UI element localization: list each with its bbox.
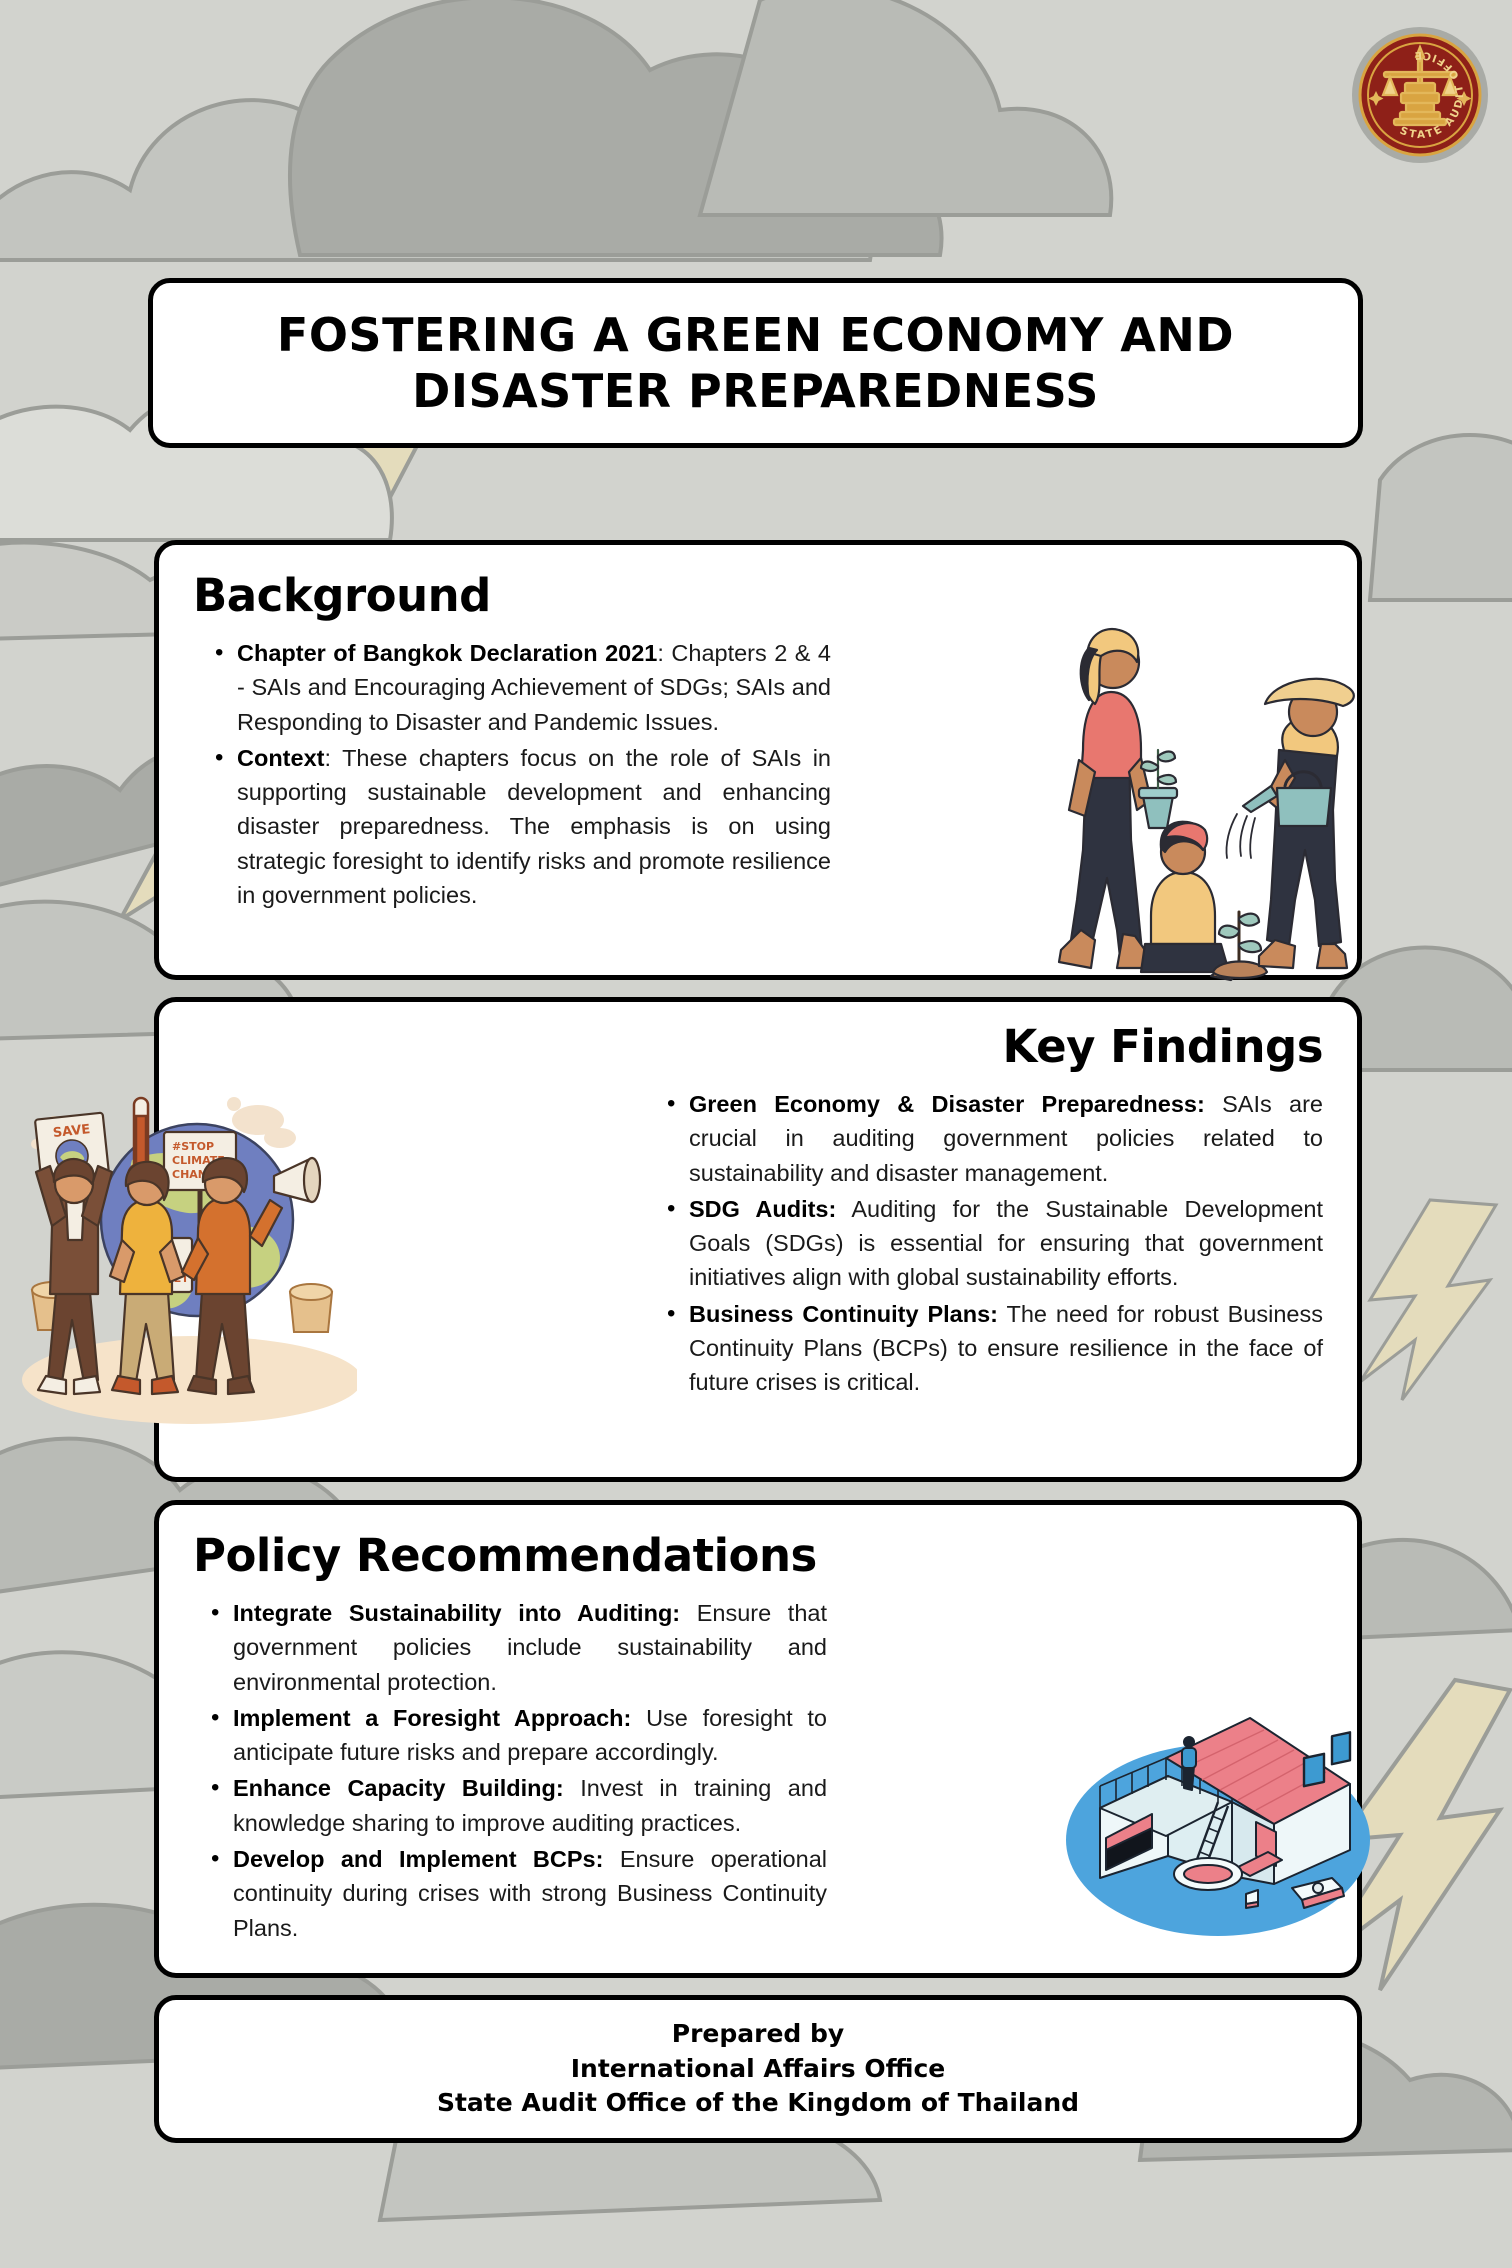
list-item: Develop and Implement BCPs: Ensure opera… [207,1842,827,1945]
lightning-bolt-icon [1360,1200,1496,1400]
bullet-separator [631,1705,646,1731]
bullet-lead: Implement a Foresight Approach: [233,1705,631,1731]
bullet-lead: Enhance Capacity Building: [233,1775,564,1801]
list-item: SDG Audits: Auditing for the Sustainable… [663,1192,1323,1295]
infographic-poster: STATE AUDIT OFFICE FOSTERING A GREEN ECO… [0,0,1512,2268]
poster-title-card: FOSTERING A GREEN ECONOMY AND DISASTER P… [148,278,1363,448]
section-heading-key-findings: Key Findings [159,1002,1357,1073]
protest-sign-label: SAVE [52,1122,91,1141]
section-key-findings: Key Findings Green Economy & Disaster Pr… [154,997,1362,1482]
bullet-separator: : [657,640,671,666]
list-item: Chapter of Bangkok Declaration 2021: Cha… [211,636,831,739]
state-audit-office-seal: STATE AUDIT OFFICE [1350,25,1490,165]
footer-office: International Affairs Office [571,2052,946,2087]
page-title: FOSTERING A GREEN ECONOMY AND DISASTER P… [153,307,1358,419]
footer-prepared-by: Prepared by [672,2017,844,2052]
cloud-icon [0,0,1111,260]
section-heading-policy-recommendations: Policy Recommendations [159,1505,1357,1582]
bullet-lead: Business Continuity Plans: [689,1301,998,1327]
list-item: Business Continuity Plans: The need for … [663,1297,1323,1400]
section-policy-recommendations: Policy Recommendations Integrate Sustain… [154,1500,1362,1978]
bullet-separator [1205,1091,1222,1117]
list-item: Context: These chapters focus on the rol… [211,741,831,912]
policy-bullet-list: Integrate Sustainability into Auditing: … [207,1596,827,1945]
bullet-separator: : [324,745,342,771]
bullet-lead: SDG Audits: [689,1196,836,1222]
key-findings-bullet-list: Green Economy & Disaster Preparedness: S… [663,1087,1323,1400]
bullet-lead: Chapter of Bangkok Declaration 2021 [237,640,657,666]
bullet-lead: Green Economy & Disaster Preparedness: [689,1091,1205,1117]
list-item: Green Economy & Disaster Preparedness: S… [663,1087,1323,1190]
list-item: Integrate Sustainability into Auditing: … [207,1596,827,1699]
background-bullet-list: Chapter of Bangkok Declaration 2021: Cha… [211,636,831,912]
section-background: Background Chapter of Bangkok Declaratio… [154,540,1362,980]
bullet-separator [564,1775,581,1801]
footer-credit-card: Prepared by International Affairs Office… [154,1995,1362,2143]
bullet-separator [836,1196,851,1222]
footer-organisation: State Audit Office of the Kingdom of Tha… [437,2086,1079,2121]
bullet-separator [680,1600,697,1626]
bullet-lead: Develop and Implement BCPs: [233,1846,603,1872]
bullet-lead: Context [237,745,324,771]
section-heading-background: Background [159,545,1357,622]
bullet-separator [603,1846,619,1872]
bullet-lead: Integrate Sustainability into Auditing: [233,1600,680,1626]
list-item: Implement a Foresight Approach: Use fore… [207,1701,827,1770]
list-item: Enhance Capacity Building: Invest in tra… [207,1771,827,1840]
